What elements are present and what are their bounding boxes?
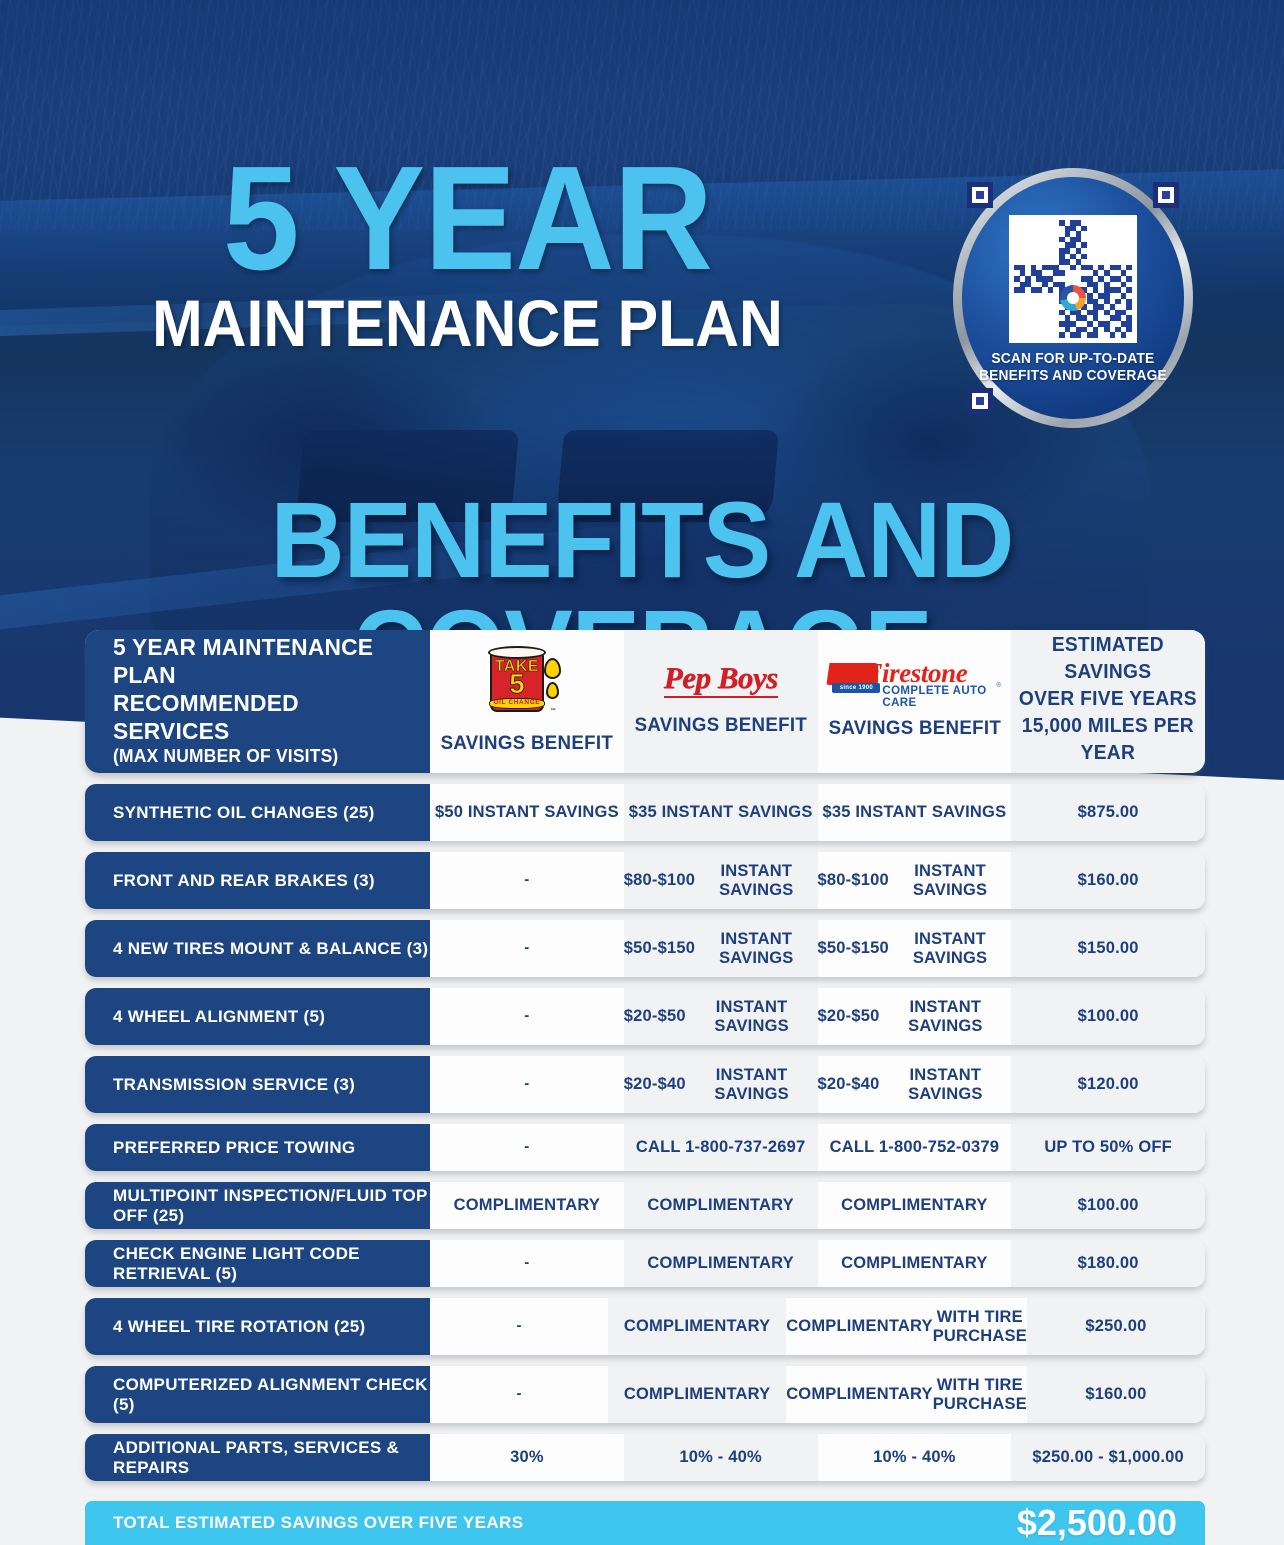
table-row: SYNTHETIC OIL CHANGES (25)$50 INSTANT SA… [85,784,1205,841]
table-header-label-line1: 5 YEAR MAINTENANCE PLAN [113,634,420,689]
table-row-service-label: 4 NEW TIRES MOUNT & BALANCE (3) [85,920,430,977]
table-row-service-label: FRONT AND REAR BRAKES (3) [85,852,430,909]
cell-firestone: 10% - 40% [818,1434,1012,1481]
cell-pepboys: CALL 1-800-737-2697 [624,1124,818,1171]
table-row-service-label: PREFERRED PRICE TOWING [85,1124,430,1171]
estimated-savings-line3: 15,000 MILES PER YEAR [1015,713,1201,767]
cell-take5: - [430,1240,624,1287]
cell-estimated: $250.00 - $1,000.00 [1011,1434,1205,1481]
cell-estimated: $250.00 [1027,1298,1205,1355]
table-header-col-firestone: since 1900 Firestone COMPLETE AUTO CARE … [818,630,1012,773]
table-header-label-cell: 5 YEAR MAINTENANCE PLAN RECOMMENDED SERV… [85,630,430,773]
table-header-row: 5 YEAR MAINTENANCE PLAN RECOMMENDED SERV… [85,630,1205,773]
qr-caption: SCAN FOR UP-TO-DATE BENEFITS AND COVERAG… [979,351,1167,385]
table-header-col-take5: TAKE 5 OIL CHANGE ™ SAVINGS BENEFIT [430,630,624,773]
table-header-col-estimated: ESTIMATED SAVINGS OVER FIVE YEARS 15,000… [1011,630,1205,773]
table-row: CHECK ENGINE LIGHT CODE RETRIEVAL (5)-CO… [85,1240,1205,1287]
qr-finder-top-left [967,182,993,208]
qr-finder-top-right [1153,182,1179,208]
cell-estimated: $180.00 [1011,1240,1205,1287]
pepboys-savings-benefit-label: SAVINGS BENEFIT [634,714,806,737]
cell-pepboys: COMPLIMENTARY [608,1366,786,1423]
cell-firestone: CALL 1-800-752-0379 [818,1124,1012,1171]
cell-take5: - [430,1056,624,1113]
cell-pepboys: $35 INSTANT SAVINGS [624,784,818,841]
table-row: 4 WHEEL TIRE ROTATION (25)-COMPLIMENTARY… [85,1298,1205,1355]
table-row-service-label: COMPUTERIZED ALIGNMENT CHECK (5) [85,1366,430,1423]
firestone-logo-icon: since 1900 Firestone COMPLETE AUTO CARE … [826,659,1002,701]
qr-badge[interactable]: SCAN FOR UP-TO-DATE BENEFITS AND COVERAG… [953,168,1193,428]
table-row: ADDITIONAL PARTS, SERVICES & REPAIRS30%1… [85,1434,1205,1481]
cell-firestone: COMPLIMENTARY [818,1240,1012,1287]
table-header-col-pepboys: Pep Boys SAVINGS BENEFIT [624,630,818,773]
total-savings-bar: TOTAL ESTIMATED SAVINGS OVER FIVE YEARS … [85,1501,1205,1545]
pepboys-logo-icon: Pep Boys [664,662,778,698]
table-header-label-line3: (MAX NUMBER OF VISITS) [113,745,420,768]
table-row-service-label: SYNTHETIC OIL CHANGES (25) [85,784,430,841]
cell-take5: - [430,1298,608,1355]
cell-take5: $50 INSTANT SAVINGS [430,784,624,841]
qr-center-logo-icon [1060,285,1086,311]
cell-take5: COMPLIMENTARY [430,1182,624,1229]
cell-take5: - [430,988,624,1045]
qr-caption-line2: BENEFITS AND COVERAGE [979,368,1167,385]
hero-title-block: 5 YEAR MAINTENANCE PLAN [0,150,935,357]
cell-firestone: COMPLIMENTARYWITH TIRE PURCHASE [786,1298,1027,1355]
total-savings-label: TOTAL ESTIMATED SAVINGS OVER FIVE YEARS [113,1513,523,1533]
qr-code-icon[interactable] [1009,215,1137,343]
table-row: FRONT AND REAR BRAKES (3)-$80-$100INSTAN… [85,852,1205,909]
table-row-service-label: 4 WHEEL ALIGNMENT (5) [85,988,430,1045]
qr-caption-line1: SCAN FOR UP-TO-DATE [979,351,1167,368]
table-row-service-label: TRANSMISSION SERVICE (3) [85,1056,430,1113]
cell-pepboys: $50-$150INSTANT SAVINGS [624,920,818,977]
cell-firestone: $35 INSTANT SAVINGS [818,784,1012,841]
take5-logo-icon: TAKE 5 OIL CHANGE ™ [484,644,570,716]
table-row-service-label: ADDITIONAL PARTS, SERVICES & REPAIRS [85,1434,430,1481]
cell-estimated: $100.00 [1011,1182,1205,1229]
table-row: TRANSMISSION SERVICE (3)-$20-$40INSTANT … [85,1056,1205,1113]
table-body: SYNTHETIC OIL CHANGES (25)$50 INSTANT SA… [85,784,1205,1481]
cell-pepboys: $80-$100INSTANT SAVINGS [624,852,818,909]
firestone-tagline: COMPLETE AUTO CARE [882,685,1002,709]
cell-estimated: $120.00 [1011,1056,1205,1113]
cell-estimated: $160.00 [1011,852,1205,909]
cell-firestone: COMPLIMENTARY [818,1182,1012,1229]
cell-pepboys: COMPLIMENTARY [608,1298,786,1355]
cell-firestone: $20-$50INSTANT SAVINGS [818,988,1012,1045]
table-row: PREFERRED PRICE TOWING-CALL 1-800-737-26… [85,1124,1205,1171]
cell-pepboys: 10% - 40% [624,1434,818,1481]
cell-estimated: UP TO 50% OFF [1011,1124,1205,1171]
table-row: 4 NEW TIRES MOUNT & BALANCE (3)-$50-$150… [85,920,1205,977]
table-header-label-line2: RECOMMENDED SERVICES [113,690,420,745]
cell-estimated: $160.00 [1027,1366,1205,1423]
cell-take5: - [430,920,624,977]
table-row-service-label: 4 WHEEL TIRE ROTATION (25) [85,1298,430,1355]
hero-title-secondary: MAINTENANCE PLAN [37,290,897,357]
cell-take5: - [430,852,624,909]
take5-savings-benefit-label: SAVINGS BENEFIT [441,732,613,755]
cell-pepboys: COMPLIMENTARY [624,1240,818,1287]
qr-finder-bottom-left [967,388,993,414]
cell-firestone: $50-$150INSTANT SAVINGS [818,920,1012,977]
table-row: MULTIPOINT INSPECTION/FLUID TOP OFF (25)… [85,1182,1205,1229]
table-row-service-label: CHECK ENGINE LIGHT CODE RETRIEVAL (5) [85,1240,430,1287]
firestone-savings-benefit-label: SAVINGS BENEFIT [828,717,1000,740]
total-savings-value: $2,500.00 [1017,1502,1177,1544]
hero-title-primary: 5 YEAR [33,150,903,288]
cell-pepboys: COMPLIMENTARY [624,1182,818,1229]
cell-firestone: COMPLIMENTARYWITH TIRE PURCHASE [786,1366,1027,1423]
cell-take5: - [430,1366,608,1423]
cell-estimated: $150.00 [1011,920,1205,977]
table-row-service-label: MULTIPOINT INSPECTION/FLUID TOP OFF (25) [85,1182,430,1229]
cell-firestone: $20-$40INSTANT SAVINGS [818,1056,1012,1113]
cell-pepboys: $20-$50INSTANT SAVINGS [624,988,818,1045]
table-row: 4 WHEEL ALIGNMENT (5)-$20-$50INSTANT SAV… [85,988,1205,1045]
estimated-savings-line1: ESTIMATED SAVINGS [1015,632,1201,686]
cell-estimated: $875.00 [1011,784,1205,841]
qr-badge-face: SCAN FOR UP-TO-DATE BENEFITS AND COVERAG… [962,177,1184,419]
cell-take5: - [430,1124,624,1171]
estimated-savings-line2: OVER FIVE YEARS [1015,686,1201,713]
cell-take5: 30% [430,1434,624,1481]
benefits-table: 5 YEAR MAINTENANCE PLAN RECOMMENDED SERV… [85,630,1205,1545]
cell-firestone: $80-$100INSTANT SAVINGS [818,852,1012,909]
cell-pepboys: $20-$40INSTANT SAVINGS [624,1056,818,1113]
table-row: COMPUTERIZED ALIGNMENT CHECK (5)-COMPLIM… [85,1366,1205,1423]
cell-estimated: $100.00 [1011,988,1205,1045]
